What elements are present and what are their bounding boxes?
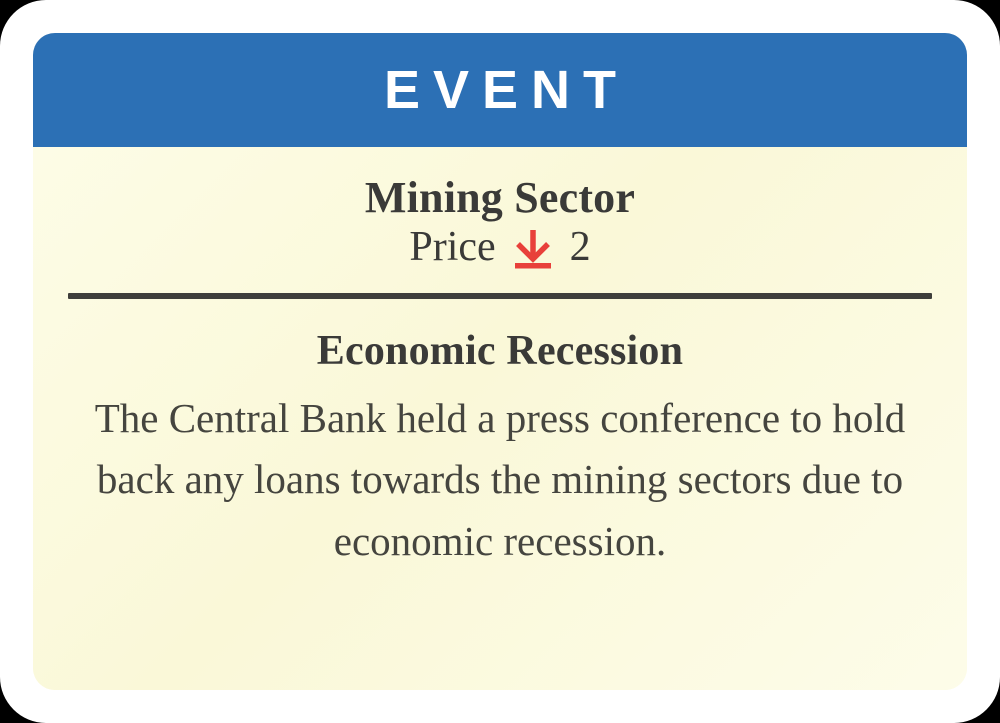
subject-block: Mining Sector Price 2	[68, 147, 932, 271]
price-change-amount: 2	[570, 224, 591, 271]
sector-name: Mining Sector	[68, 174, 932, 222]
price-label: Price	[409, 224, 495, 271]
event-title: Economic Recession	[68, 328, 932, 374]
event-card[interactable]: EVENT Mining Sector Price	[33, 33, 967, 690]
card-body: Mining Sector Price 2	[33, 147, 967, 690]
card-type-label: EVENT	[371, 63, 629, 117]
event-block: Economic Recession The Central Bank held…	[68, 299, 932, 573]
event-description: The Central Bank held a press conference…	[68, 388, 932, 573]
card-header-banner: EVENT	[33, 33, 967, 147]
arrow-down-to-bar-icon	[510, 228, 556, 272]
card-outer-frame: EVENT Mining Sector Price	[0, 0, 1000, 723]
price-effect-line: Price 2	[68, 224, 932, 271]
